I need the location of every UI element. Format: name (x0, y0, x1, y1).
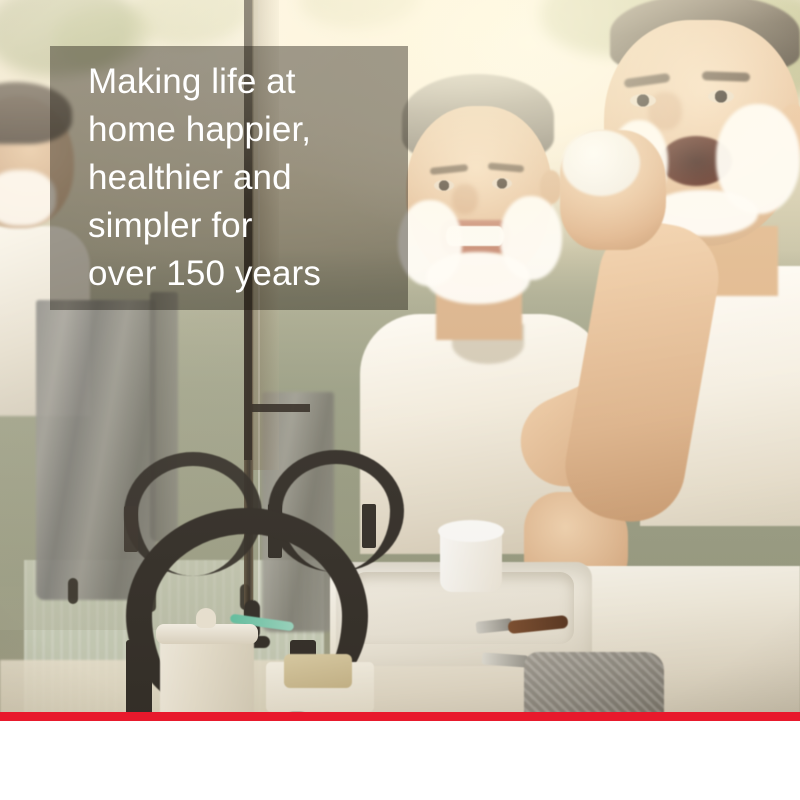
brand-accent-bar (0, 712, 800, 721)
footer-bar: American Standard (0, 721, 800, 800)
soap-bar (284, 654, 352, 688)
towel-hook-icon (68, 578, 78, 604)
son-eyebrow (702, 71, 750, 82)
headline-text: Making life at home happier, healthier a… (88, 58, 418, 298)
father-eye (434, 180, 454, 191)
shaving-foam (426, 252, 530, 304)
reflection-shaving-foam (0, 170, 56, 226)
father-nose (452, 184, 478, 214)
son-figure (596, 0, 800, 514)
son-eye (630, 94, 656, 107)
ceramic-jar (160, 632, 254, 712)
foam-blob (562, 130, 640, 196)
shaving-cream-foam-top (438, 520, 504, 542)
main-faucet-stem (126, 640, 152, 712)
son-eye (708, 90, 734, 103)
hanging-towel (36, 300, 156, 600)
advertisement-canvas: Making life at home happier, healthier a… (0, 0, 800, 800)
faucet-spout (362, 504, 376, 548)
ceramic-jar-knob (196, 608, 216, 628)
folded-grey-towel (524, 652, 664, 712)
faucet-reflection-stem (124, 506, 138, 552)
father-eye (492, 178, 512, 189)
hero-photo: Making life at home happier, healthier a… (0, 0, 800, 712)
shower-arm (252, 404, 310, 412)
